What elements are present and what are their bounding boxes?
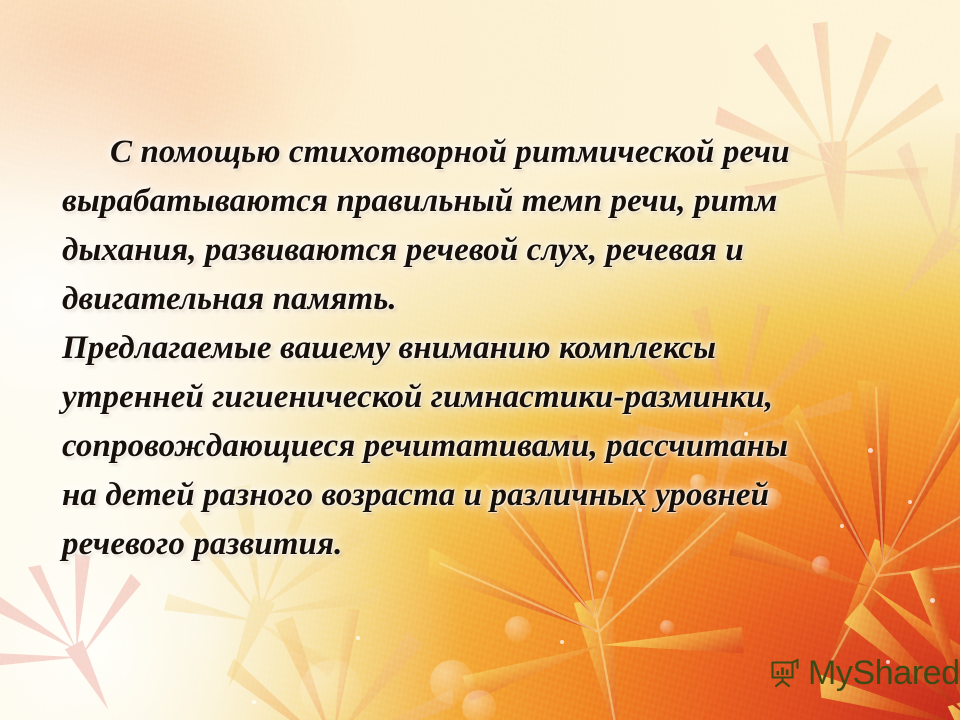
- presentation-slide: С помощью стихотворной ритмической речи …: [0, 0, 960, 720]
- bokeh-speck: [356, 636, 360, 640]
- text-line: речевого развития.: [62, 520, 882, 569]
- bokeh-dot: [596, 570, 608, 582]
- bokeh-dot: [180, 610, 230, 660]
- bokeh-speck: [908, 500, 912, 504]
- text-line: утренней гигиенической гимнастики-размин…: [62, 373, 882, 422]
- slide-body-text: С помощью стихотворной ритмической речи …: [62, 128, 882, 569]
- bokeh-dot: [462, 690, 496, 720]
- text-line: двигательная память.: [62, 275, 882, 324]
- text-line: вырабатываются правильный темп речи, рит…: [62, 177, 882, 226]
- bokeh-speck: [930, 598, 935, 603]
- text-line: сопровождающиеся речитативами, рассчитан…: [62, 422, 882, 471]
- text-line: дыхания, развиваются речевой слух, речев…: [62, 226, 882, 275]
- myshared-label: MyShared: [808, 656, 960, 690]
- text-line: Предлагаемые вашему вниманию комплексы: [62, 324, 882, 373]
- bokeh-dot: [505, 616, 531, 642]
- text-line: С помощью стихотворной ритмической речи: [62, 128, 882, 177]
- bokeh-dot: [300, 660, 362, 720]
- presentation-chart-icon: [768, 656, 802, 690]
- bokeh-speck: [252, 700, 256, 704]
- text-line: на детей разного возраста и различных ур…: [62, 471, 882, 520]
- myshared-watermark: MyShared: [768, 656, 960, 690]
- bokeh-speck: [560, 640, 564, 644]
- bokeh-dot: [660, 620, 674, 634]
